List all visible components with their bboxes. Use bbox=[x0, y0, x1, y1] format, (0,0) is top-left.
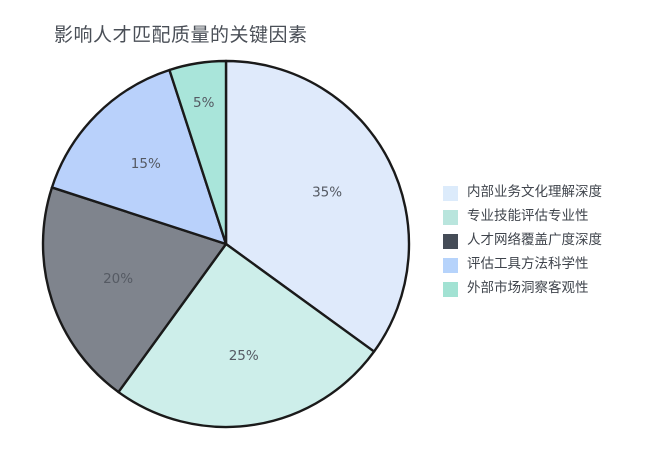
pie-slice-percent-label: 5% bbox=[193, 95, 215, 111]
pie-slice-percent-label: 15% bbox=[131, 156, 161, 172]
pie-slice-percent-label: 20% bbox=[103, 271, 133, 287]
legend-item[interactable]: 专业技能评估专业性 bbox=[443, 205, 602, 229]
legend-item-label: 内部业务文化理解深度 bbox=[467, 186, 602, 200]
legend-item[interactable]: 内部业务文化理解深度 bbox=[443, 181, 602, 205]
legend-item[interactable]: 外部市场洞察客观性 bbox=[443, 277, 602, 301]
legend-item[interactable]: 评估工具方法科学性 bbox=[443, 253, 602, 277]
legend-color-swatch bbox=[443, 210, 458, 225]
legend-color-swatch bbox=[443, 258, 458, 273]
legend-item-label: 外部市场洞察客观性 bbox=[467, 282, 589, 296]
legend-item[interactable]: 人才网络覆盖广度深度 bbox=[443, 229, 602, 253]
legend-color-swatch bbox=[443, 186, 458, 201]
legend-item-label: 评估工具方法科学性 bbox=[467, 258, 589, 272]
pie-chart-svg: 35%25%20%15%5% bbox=[0, 0, 440, 450]
pie-slice-percent-label: 35% bbox=[312, 185, 342, 201]
chart-page: 影响人才匹配质量的关键因素 35%25%20%15%5% 内部业务文化理解深度专… bbox=[0, 0, 648, 450]
pie-slice-percent-label: 25% bbox=[229, 348, 259, 364]
pie-chart-area: 35%25%20%15%5% bbox=[0, 0, 440, 450]
legend-color-swatch bbox=[443, 234, 458, 249]
legend-color-swatch bbox=[443, 282, 458, 297]
legend-item-label: 人才网络覆盖广度深度 bbox=[467, 234, 602, 248]
legend-item-label: 专业技能评估专业性 bbox=[467, 210, 589, 224]
pie-slices-group bbox=[43, 61, 409, 427]
chart-legend: 内部业务文化理解深度专业技能评估专业性人才网络覆盖广度深度评估工具方法科学性外部… bbox=[443, 181, 602, 301]
